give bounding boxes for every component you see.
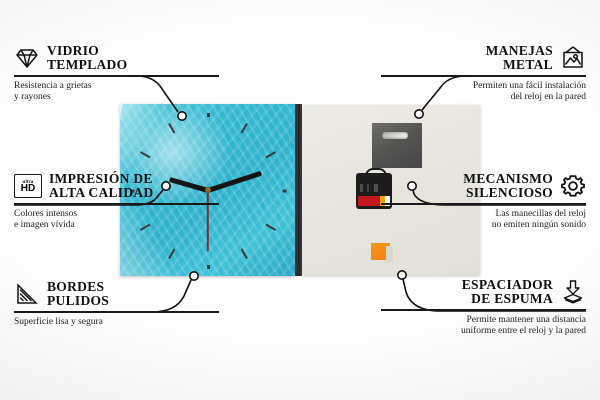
feature-header: ultra HD IMPRESIÓN DE ALTA CALIDAD [14, 172, 219, 200]
feature-manejas-metal: MANEJAS METAL Permiten una fácil instala… [381, 44, 586, 104]
product-infographic: VIDRIO TEMPLADO Resistencia a grietas y … [0, 0, 600, 400]
feature-title: IMPRESIÓN DE ALTA CALIDAD [49, 172, 154, 200]
gear-icon [560, 173, 586, 199]
feature-desc-line1: Superficie lisa y segura [14, 317, 219, 329]
feature-title-line1: ESPACIADOR [462, 278, 553, 292]
feature-header: MANEJAS METAL [381, 44, 586, 72]
feature-divider [14, 203, 219, 205]
feature-title-line2: DE ESPUMA [462, 292, 553, 306]
feature-title-line1: MANEJAS [486, 44, 553, 58]
feature-header: ESPACIADOR DE ESPUMA [381, 278, 586, 306]
clock-tick [168, 123, 175, 134]
clock-tick [282, 190, 286, 193]
feature-desc-line1: Colores intensos [14, 209, 219, 221]
feature-title: VIDRIO TEMPLADO [47, 44, 127, 72]
clock-tick [168, 249, 175, 260]
ultra-hd-large-text: HD [21, 184, 35, 194]
feature-divider [14, 311, 219, 313]
feature-vidrio-templado: VIDRIO TEMPLADO Resistencia a grietas y … [14, 44, 219, 104]
feature-desc-line1: Las manecillas del reloj [381, 209, 586, 221]
feature-title: MANEJAS METAL [486, 44, 553, 72]
feature-divider [14, 75, 219, 77]
picture-frame-hanging-icon [560, 45, 586, 71]
feature-desc-line1: Permite mantener una distancia [381, 315, 586, 327]
feature-desc-line1: Permiten una fácil instalación [381, 81, 586, 93]
feature-header: VIDRIO TEMPLADO [14, 44, 219, 72]
clock-tick [240, 249, 247, 260]
feature-desc-line1: Resistencia a grietas [14, 81, 219, 93]
feature-impresion-alta-calidad: ultra HD IMPRESIÓN DE ALTA CALIDAD Color… [14, 172, 219, 232]
feature-mecanismo-silencioso: MECANISMO SILENCIOSO Las manecillas del … [381, 172, 586, 232]
feature-description: Las manecillas del reloj no emiten ningú… [381, 209, 586, 232]
ultra-hd-icon: ultra HD [14, 174, 42, 198]
diamond-icon [14, 45, 40, 71]
feature-divider [381, 309, 586, 311]
feature-description: Permiten una fácil instalación del reloj… [381, 81, 586, 104]
feature-title-line2: ALTA CALIDAD [49, 186, 154, 200]
hanger-slot [382, 132, 408, 139]
foam-spacer [371, 243, 390, 260]
feature-desc-line2: y rayones [14, 92, 219, 104]
feature-title-line1: BORDES [47, 280, 109, 294]
feature-title-line1: IMPRESIÓN DE [49, 172, 154, 186]
feature-title-line1: MECANISMO [463, 172, 553, 186]
clock-tick [139, 151, 150, 158]
feature-desc-line2: no emiten ningún sonido [381, 220, 586, 232]
metal-hanger [372, 123, 422, 168]
clock-tick [207, 113, 210, 117]
feature-description: Permite mantener una distancia uniforme … [381, 315, 586, 338]
clock-tick [265, 224, 276, 231]
clock-tick [265, 151, 276, 158]
clock-side-edge [295, 104, 302, 276]
feature-title-line2: PULIDOS [47, 294, 109, 308]
feature-desc-line2: uniforme entre el reloj y la pared [381, 326, 586, 338]
feature-title-line2: TEMPLADO [47, 58, 127, 72]
clock-tick [240, 123, 247, 134]
feature-desc-line2: del reloj en la pared [381, 92, 586, 104]
feature-description: Colores intensos e imagen vívida [14, 209, 219, 232]
feature-title: MECANISMO SILENCIOSO [463, 172, 553, 200]
clock-tick [207, 265, 210, 269]
feature-header: BORDES PULIDOS [14, 280, 219, 308]
feature-espaciador-de-espuma: ESPACIADOR DE ESPUMA Permite mantener un… [381, 278, 586, 338]
feature-divider [381, 75, 586, 77]
feature-description: Resistencia a grietas y rayones [14, 81, 219, 104]
feature-bordes-pulidos: BORDES PULIDOS Superficie lisa y segura [14, 280, 219, 328]
feature-description: Superficie lisa y segura [14, 317, 219, 329]
down-arrow-layers-icon [560, 279, 586, 305]
feature-title: ESPACIADOR DE ESPUMA [462, 278, 553, 306]
feature-title: BORDES PULIDOS [47, 280, 109, 308]
polished-edge-icon [14, 281, 40, 307]
feature-title-line2: SILENCIOSO [463, 186, 553, 200]
feature-divider [381, 203, 586, 205]
feature-header: MECANISMO SILENCIOSO [381, 172, 586, 200]
feature-title-line2: METAL [486, 58, 553, 72]
feature-title-line1: VIDRIO [47, 44, 127, 58]
feature-desc-line2: e imagen vívida [14, 220, 219, 232]
